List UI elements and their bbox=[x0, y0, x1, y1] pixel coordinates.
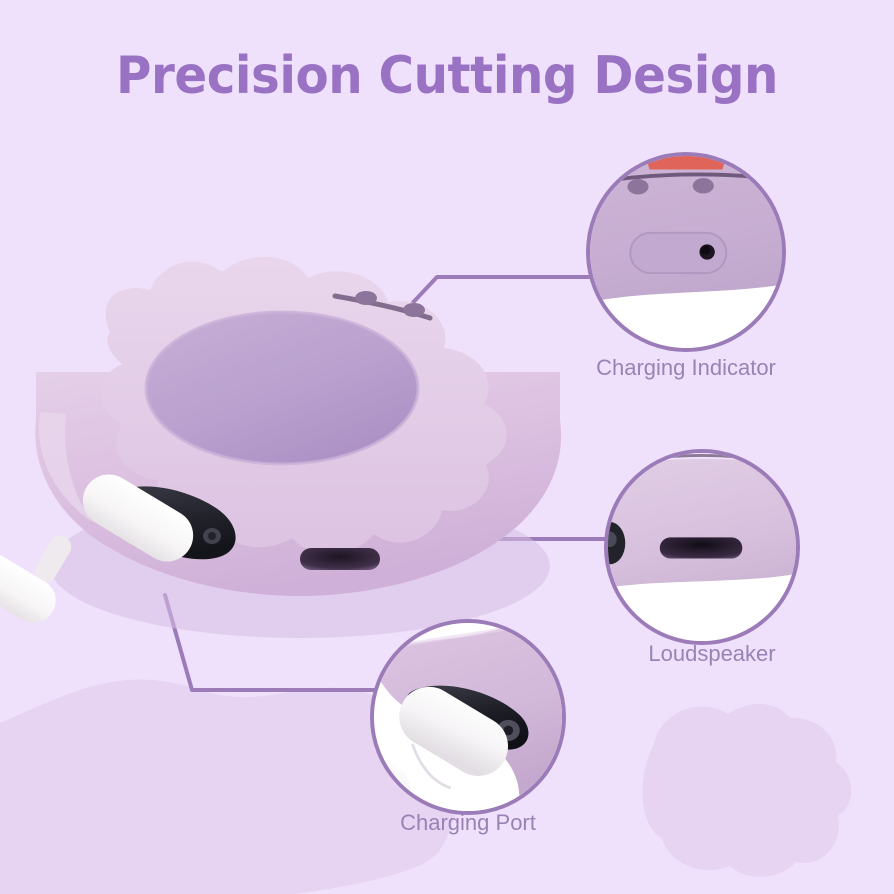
label-charging-indicator: Charging Indicator bbox=[586, 355, 786, 381]
callout-loudspeaker[interactable] bbox=[604, 449, 800, 645]
button-bump-1 bbox=[355, 291, 377, 305]
product-infographic: Precision Cutting Design bbox=[0, 0, 894, 894]
label-loudspeaker: Loudspeaker bbox=[614, 641, 810, 667]
loudspeaker-detail bbox=[608, 453, 796, 641]
callout-charging-port[interactable] bbox=[370, 619, 566, 815]
callout-charging-indicator[interactable] bbox=[586, 152, 786, 352]
speaker-slot bbox=[300, 548, 380, 570]
charging-port-detail bbox=[374, 623, 562, 811]
label-charging-port: Charging Port bbox=[370, 810, 566, 836]
case-body bbox=[0, 257, 561, 638]
button-bump-2 bbox=[403, 303, 425, 317]
charging-indicator-detail bbox=[590, 156, 782, 348]
